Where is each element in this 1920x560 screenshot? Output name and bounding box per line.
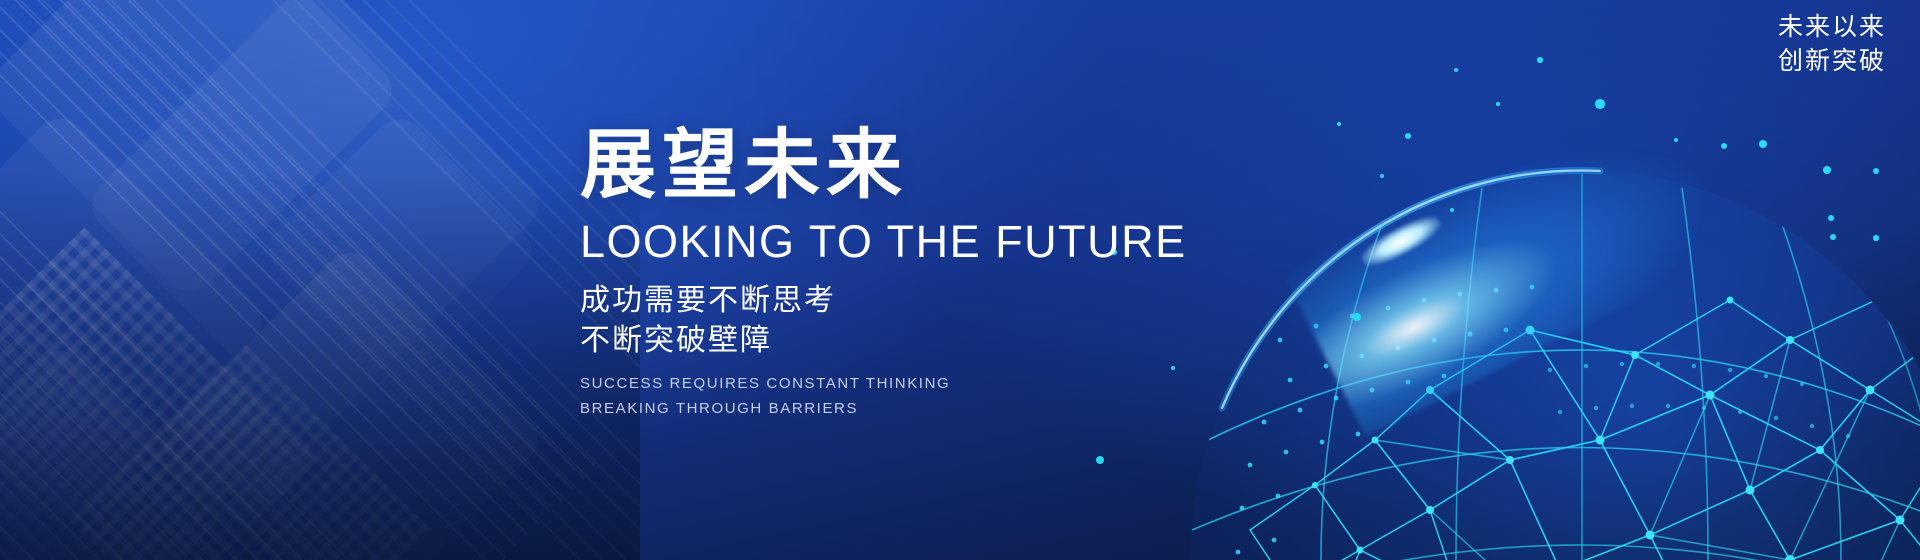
tagline-english: SUCCESS REQUIRES CONSTANT THINKING BREAK… bbox=[580, 372, 1320, 421]
dot-grid-texture bbox=[0, 227, 318, 560]
corner-slogan-line2: 创新突破 bbox=[1778, 44, 1886, 78]
tagline-chinese: 成功需要不断思考 不断突破壁障 bbox=[580, 281, 1320, 360]
diamond-shape bbox=[259, 109, 542, 392]
particle-dot bbox=[1337, 122, 1341, 126]
particle-dot bbox=[1873, 235, 1878, 240]
tagline-english-line1: SUCCESS REQUIRES CONSTANT THINKING bbox=[580, 372, 1320, 396]
particle-dot bbox=[1830, 234, 1836, 240]
diagonal-lines-icon bbox=[0, 60, 430, 560]
particle-dot bbox=[1380, 174, 1384, 178]
particle-dot bbox=[1823, 166, 1831, 174]
diagonal-lines-icon bbox=[0, 0, 640, 560]
corner-slogan-line1: 未来以来 bbox=[1778, 10, 1886, 44]
particle-dot bbox=[1353, 313, 1360, 320]
diamond-shape bbox=[0, 340, 230, 560]
tagline-chinese-line2: 不断突破壁障 bbox=[580, 321, 1320, 361]
particle-dot bbox=[1405, 133, 1411, 139]
particle-dot bbox=[1759, 140, 1767, 148]
globe-glow-highlight bbox=[1357, 209, 1445, 272]
diamond-shape bbox=[152, 242, 548, 560]
particle-dot bbox=[1674, 138, 1679, 143]
gradient-fade-overlay bbox=[0, 0, 640, 560]
particle-dot bbox=[1828, 215, 1835, 222]
page-title: 展望未来 bbox=[580, 128, 1320, 204]
particle-dot bbox=[1454, 68, 1458, 72]
particle-dot bbox=[1873, 168, 1879, 174]
diamond-shape bbox=[0, 0, 402, 302]
particle-dot bbox=[1595, 99, 1604, 108]
diagonal-lines-icon bbox=[0, 0, 596, 560]
particle-dot bbox=[1450, 208, 1455, 213]
diagonal-lines-icon bbox=[0, 250, 322, 560]
diagonal-lines-icon bbox=[109, 0, 640, 560]
tagline-chinese-line1: 成功需要不断思考 bbox=[580, 281, 1320, 321]
promo-banner: 展望未来 LOOKING TO THE FUTURE 成功需要不断思考 不断突破… bbox=[0, 0, 1920, 560]
headline-copy-block: 展望未来 LOOKING TO THE FUTURE 成功需要不断思考 不断突破… bbox=[580, 128, 1320, 421]
corner-slogan: 未来以来 创新突破 bbox=[1778, 10, 1886, 78]
particle-dot bbox=[1096, 456, 1104, 464]
particle-dot bbox=[1496, 102, 1500, 106]
globe-rim-glow bbox=[1280, 77, 1740, 437]
dot-grid-texture bbox=[70, 345, 431, 560]
page-subtitle-english: LOOKING TO THE FUTURE bbox=[580, 218, 1320, 265]
diamond-shape bbox=[82, 0, 549, 438]
particle-dot bbox=[1721, 143, 1727, 149]
diamond-shape bbox=[0, 108, 272, 532]
tagline-english-line2: BREAKING THROUGH BARRIERS bbox=[580, 397, 1320, 421]
left-geometric-decoration bbox=[0, 0, 640, 560]
particle-dot bbox=[1537, 57, 1542, 62]
